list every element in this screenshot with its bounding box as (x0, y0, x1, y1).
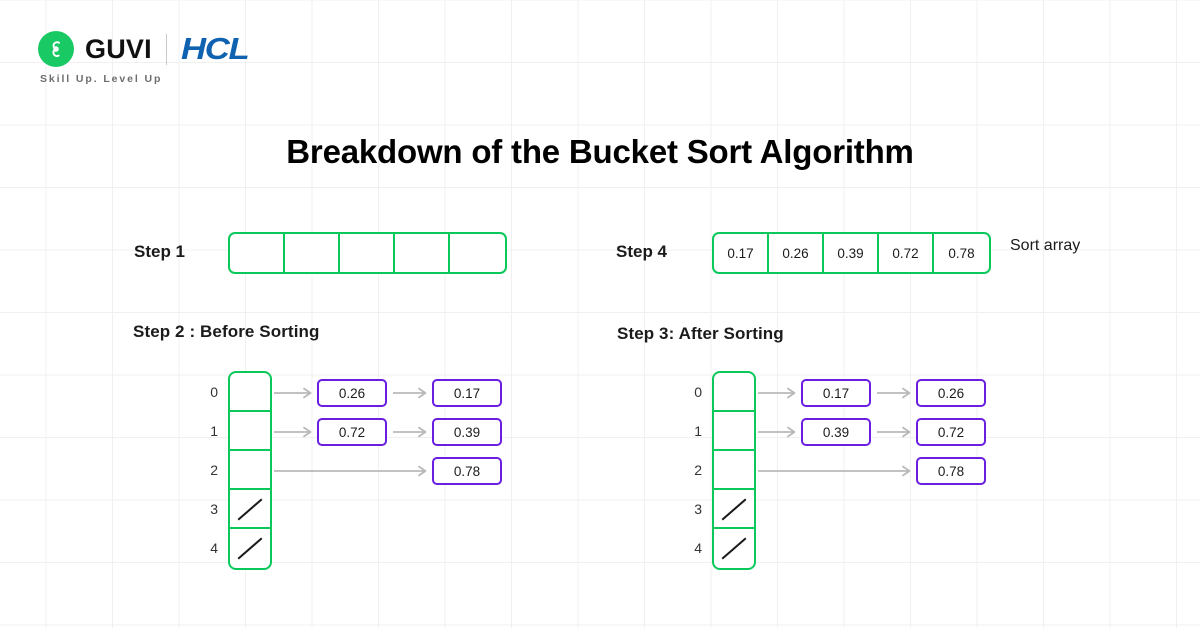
step3-index-label-4: 4 (684, 540, 702, 556)
step3-index-label-0: 0 (684, 384, 702, 400)
step2-index-label-1: 1 (200, 423, 218, 439)
step3-bucket-cell-4 (714, 529, 754, 568)
infographic-canvas: GUVI HCL Skill Up. Level Up Breakdown of… (0, 0, 1200, 628)
step1-cell-4 (450, 234, 505, 272)
step3-bucket-column (712, 371, 756, 570)
step3-bucket-cell-3 (714, 490, 754, 529)
step4-cell-0: 0.17 (714, 234, 769, 272)
step2-bucket-column (228, 371, 272, 570)
step3-value-box-1-1: 0.39 (801, 418, 871, 446)
step2-index-label-2: 2 (200, 462, 218, 478)
step1-cell-2 (340, 234, 395, 272)
step2-empty-slash-icon-3 (230, 490, 270, 527)
step2-index-label-4: 4 (200, 540, 218, 556)
step3-value-box-0-1: 0.17 (801, 379, 871, 407)
step2-arrow-bucket-to-v1-0 (274, 386, 311, 400)
step2-bucket-cell-1 (230, 412, 270, 451)
step2-bucket-cell-2 (230, 451, 270, 490)
step2-value-box-1-1: 0.72 (317, 418, 387, 446)
step4-cell-4: 0.78 (934, 234, 989, 272)
step4-cell-3: 0.72 (879, 234, 934, 272)
step2-arrow-bucket-to-v1-2 (274, 464, 426, 478)
logo-row: GUVI HCL (38, 31, 241, 67)
step3-index-label-2: 2 (684, 462, 702, 478)
step3-value-box-1-2: 0.72 (916, 418, 986, 446)
logo-divider (166, 34, 167, 65)
step1-cell-1 (285, 234, 340, 272)
step3-index-label-1: 1 (684, 423, 702, 439)
step4-cell-1: 0.26 (769, 234, 824, 272)
step1-cell-0 (230, 234, 285, 272)
step2-heading: Step 2 : Before Sorting (133, 322, 320, 342)
step3-bucket-cell-2 (714, 451, 754, 490)
step1-array (228, 232, 507, 274)
step3-value-box-2-1: 0.78 (916, 457, 986, 485)
step2-bucket-cell-0 (230, 373, 270, 412)
step2-arrow-v1-to-v2-0 (393, 386, 426, 400)
step3-arrow-v1-to-v2-1 (877, 425, 910, 439)
step2-index-label-0: 0 (200, 384, 218, 400)
page-title: Breakdown of the Bucket Sort Algorithm (0, 133, 1200, 171)
step4-array: 0.170.260.390.720.78 (712, 232, 991, 274)
step4-cell-2: 0.39 (824, 234, 879, 272)
brand-logo-bar: GUVI HCL Skill Up. Level Up (38, 31, 241, 85)
step1-label: Step 1 (134, 242, 185, 262)
step1-cell-3 (395, 234, 450, 272)
step3-heading: Step 3: After Sorting (617, 324, 784, 344)
step2-value-box-1-2: 0.39 (432, 418, 502, 446)
sort-array-note: Sort array (1010, 237, 1080, 255)
step3-arrow-bucket-to-v1-1 (758, 425, 795, 439)
step3-empty-slash-icon-3 (714, 490, 754, 527)
step2-bucket-cell-4 (230, 529, 270, 568)
step2-value-box-0-1: 0.26 (317, 379, 387, 407)
step3-arrow-bucket-to-v1-0 (758, 386, 795, 400)
step2-empty-slash-icon-4 (230, 529, 270, 566)
step3-bucket-cell-0 (714, 373, 754, 412)
guvi-logo-icon (38, 31, 74, 67)
hcl-wordmark: HCL (181, 31, 248, 67)
step2-value-box-2-1: 0.78 (432, 457, 502, 485)
guvi-wordmark: GUVI (85, 34, 152, 65)
step2-arrow-bucket-to-v1-1 (274, 425, 311, 439)
step3-value-box-0-2: 0.26 (916, 379, 986, 407)
step3-empty-slash-icon-4 (714, 529, 754, 566)
step3-arrow-bucket-to-v1-2 (758, 464, 910, 478)
step4-label: Step 4 (616, 242, 667, 262)
step2-value-box-0-2: 0.17 (432, 379, 502, 407)
step3-index-label-3: 3 (684, 501, 702, 517)
brand-tagline: Skill Up. Level Up (40, 73, 241, 85)
step3-arrow-v1-to-v2-0 (877, 386, 910, 400)
step2-arrow-v1-to-v2-1 (393, 425, 426, 439)
step3-bucket-cell-1 (714, 412, 754, 451)
step2-bucket-cell-3 (230, 490, 270, 529)
step2-index-label-3: 3 (200, 501, 218, 517)
